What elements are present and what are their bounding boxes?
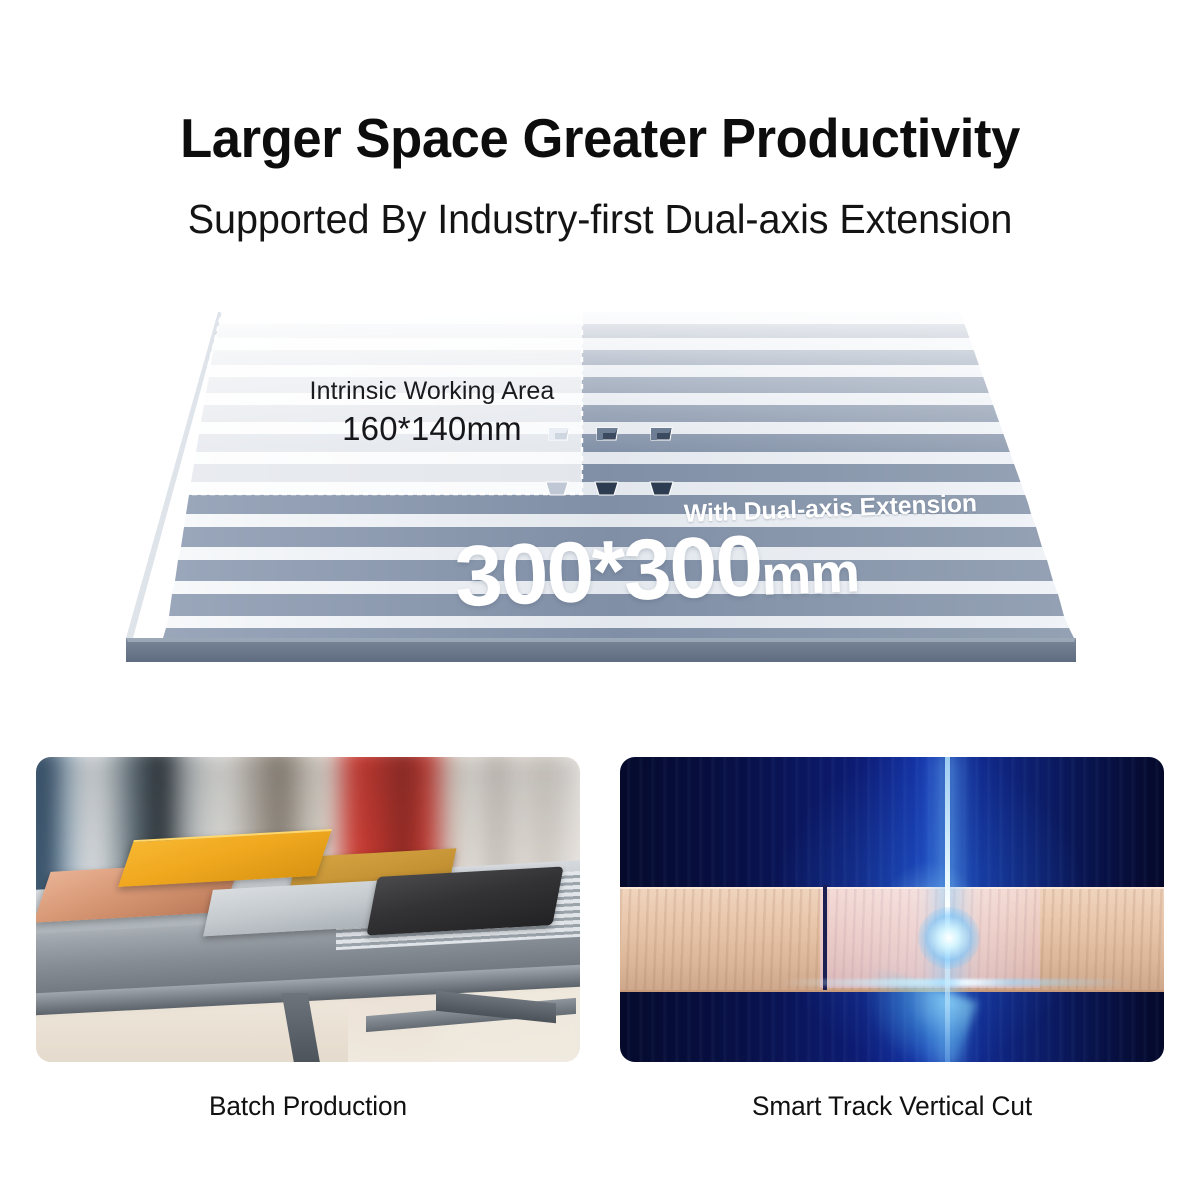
material-sheet-black xyxy=(366,866,563,935)
laser-focal-flare xyxy=(918,907,980,969)
batch-production-photo xyxy=(36,757,580,1062)
photo-card-smart-track-vertical-cut[interactable] xyxy=(620,757,1164,1062)
feature-photo-row xyxy=(36,757,1164,1062)
vertical-cut-photo xyxy=(620,757,1164,1062)
working-area-diagram: Intrinsic Working Area 160*140mm With Du… xyxy=(0,276,1200,696)
laser-horizontal-flare xyxy=(780,979,1130,986)
photo-card-batch-production[interactable] xyxy=(36,757,580,1062)
caption-smart-track-vertical-cut: Smart Track Vertical Cut xyxy=(628,1089,1156,1123)
slat-bed-svg xyxy=(0,276,1200,696)
cut-kerf-line xyxy=(823,885,827,990)
caption-batch-production: Batch Production xyxy=(44,1089,572,1123)
page-subtitle: Supported By Industry-first Dual-axis Ex… xyxy=(21,192,1179,246)
page-title: Larger Space Greater Productivity xyxy=(27,104,1173,172)
slat-bed-illustration: Intrinsic Working Area 160*140mm With Du… xyxy=(0,276,1200,696)
